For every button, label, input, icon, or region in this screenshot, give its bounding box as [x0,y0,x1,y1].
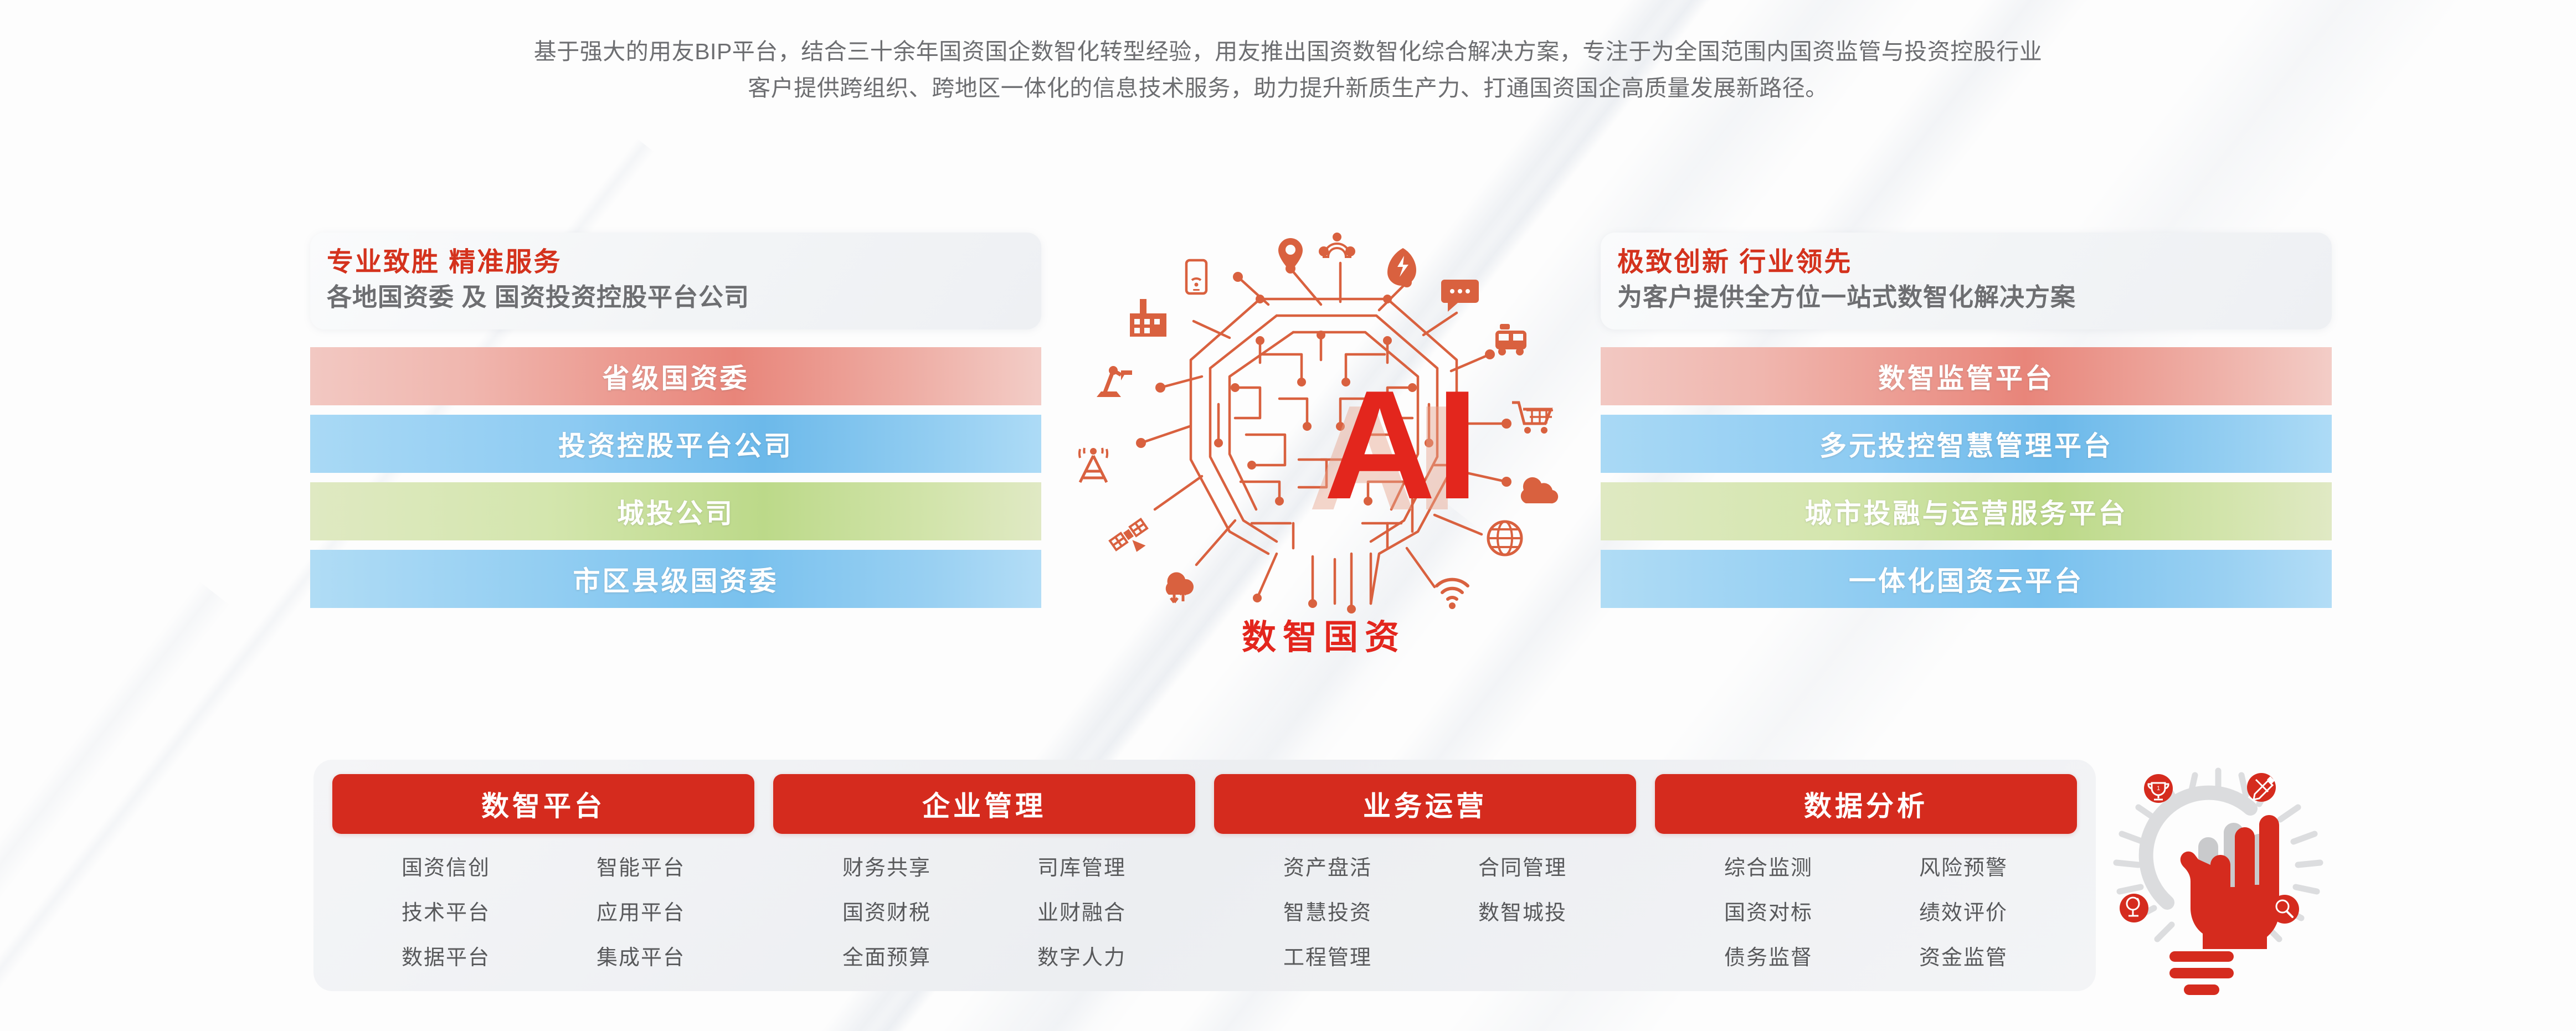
card-1[interactable]: 企业管理 财务共享 司库管理 国资财税 业财融合 全面预算 数字人力 [773,774,1195,991]
card-3-item-3[interactable]: 绩效评价 [1919,895,2008,926]
intro-line-1: 基于强大的用友BIP平台，结合三十余年国资国企数智化转型经验，用友推出国资数智化… [0,33,2576,70]
chat-bubble-icon [1441,280,1479,312]
left-column-header: 专业致胜 精准服务 各地国资委 及 国资投资控股平台公司 [310,233,1041,329]
pencil-tools-icon [2247,773,2276,802]
card-0[interactable]: 数智平台 国资信创 智能平台 技术平台 应用平台 数据平台 集成平台 [332,774,754,991]
svg-text:1: 1 [2157,785,2160,792]
card-1-items: 财务共享 司库管理 国资财税 业财融合 全面预算 数字人力 [773,850,1195,971]
magnifier-icon [2270,895,2299,924]
card-2-items: 资产盘活 合同管理 智慧投资 数智城投 工程管理 [1214,850,1636,971]
right-bar-label-0: 数智监管平台 [1878,357,2054,396]
card-2-title: 业务运营 [1214,774,1636,834]
card-1-item-2[interactable]: 国资财税 [842,895,931,926]
right-bar-3[interactable]: 一体化国资云平台 [1601,550,2332,608]
card-3-items: 综合监测 风险预警 国资对标 绩效评价 债务监督 资金监管 [1655,850,2077,971]
bottom-panel: 数智平台 国资信创 智能平台 技术平台 应用平台 数据平台 集成平台 企业管理 … [313,760,2096,991]
card-0-title: 数智平台 [332,774,754,834]
intro-paragraph: 基于强大的用友BIP平台，结合三十余年国资国企数智化转型经验，用友推出国资数智化… [0,33,2576,107]
card-2-item-3[interactable]: 数智城投 [1478,895,1567,926]
radio-tower-icon [1079,448,1107,482]
card-2-item-1[interactable]: 合同管理 [1478,850,1567,881]
centre-brand-label: 数智国资 [1069,609,1578,659]
card-0-item-1[interactable]: 智能平台 [597,850,685,881]
card-0-item-0[interactable]: 国资信创 [402,850,490,881]
shopping-cart-icon [1512,403,1553,434]
trophy-icon: 1 [2144,774,2173,803]
card-3-item-0[interactable]: 综合监测 [1724,850,1813,881]
satellite-icon [1108,518,1155,561]
card-3[interactable]: 数据分析 综合监测 风险预警 国资对标 绩效评价 债务监督 资金监管 [1655,774,2077,991]
card-0-item-2[interactable]: 技术平台 [402,895,490,926]
left-column: 专业致胜 精准服务 各地国资委 及 国资投资控股平台公司 省级国资委 投资控股平… [310,233,1041,617]
brain-circuit-svg: AI AI [1069,221,1578,631]
left-bar-label-0: 省级国资委 [602,357,749,396]
lightbulb-svg: 1 [2102,752,2335,1018]
right-bar-label-1: 多元投控智慧管理平台 [1819,424,2113,463]
left-bar-label-3: 市区县级国资委 [573,559,778,599]
right-column-subtitle: 为客户提供全方位一站式数智化解决方案 [1617,281,2315,314]
right-column-bars: 数智监管平台 多元投控智慧管理平台 城市投融与运营服务平台 一体化国资云平台 [1601,347,2332,608]
right-column-header: 极致创新 行业领先 为客户提供全方位一站式数智化解决方案 [1601,233,2332,329]
robot-arm-icon [1097,366,1132,397]
location-pin-icon [1278,238,1303,271]
card-0-item-3[interactable]: 应用平台 [597,895,685,926]
bg-streak [0,581,230,1031]
left-bar-label-2: 城投公司 [617,492,734,531]
intro-line-2: 客户提供跨组织、跨地区一体化的信息技术服务，助力提升新质生产力、打通国资国企高质… [0,70,2576,106]
cloud-transfer-icon [1166,573,1194,602]
card-2-item-4[interactable]: 工程管理 [1283,940,1372,971]
wifi-icon [1437,580,1468,609]
ai-letters: AI [1324,359,1479,532]
globe-stand-icon [2120,894,2148,922]
right-bar-1[interactable]: 多元投控智慧管理平台 [1601,415,2332,473]
right-bar-label-2: 城市投融与运营服务平台 [1804,492,2127,531]
card-2-item-2[interactable]: 智慧投资 [1283,895,1372,926]
card-0-items: 国资信创 智能平台 技术平台 应用平台 数据平台 集成平台 [332,850,754,971]
left-bar-label-1: 投资控股平台公司 [558,424,793,463]
left-column-title: 专业致胜 精准服务 [327,246,1025,279]
card-2-item-0[interactable]: 资产盘活 [1283,850,1372,881]
card-1-item-3[interactable]: 业财融合 [1037,895,1126,926]
smartphone-wifi-icon [1186,260,1206,293]
card-3-item-5[interactable]: 资金监管 [1919,940,2008,971]
card-3-item-2[interactable]: 国资对标 [1724,895,1813,926]
idea-lightbulb-graphic: 1 [2102,752,2335,1018]
card-3-title: 数据分析 [1655,774,2077,834]
card-0-item-5[interactable]: 集成平台 [597,940,685,971]
left-bar-0[interactable]: 省级国资委 [310,347,1041,405]
leaf-energy-icon [1387,248,1416,286]
card-3-item-1[interactable]: 风险预警 [1919,850,2008,881]
card-1-title: 企业管理 [773,774,1195,834]
globe-icon [1488,522,1521,555]
users-group-icon [1319,233,1355,257]
capability-cards: 数智平台 国资信创 智能平台 技术平台 应用平台 数据平台 集成平台 企业管理 … [313,760,2096,991]
card-3-item-4[interactable]: 债务监督 [1724,940,1813,971]
bus-icon [1495,324,1526,355]
left-bar-1[interactable]: 投资控股平台公司 [310,415,1041,473]
card-0-item-4[interactable]: 数据平台 [402,940,490,971]
card-1-item-4[interactable]: 全面预算 [842,940,931,971]
right-bar-2[interactable]: 城市投融与运营服务平台 [1601,482,2332,540]
card-1-item-5[interactable]: 数字人力 [1037,940,1126,971]
left-column-subtitle: 各地国资委 及 国资投资控股平台公司 [327,281,1025,314]
right-column: 极致创新 行业领先 为客户提供全方位一站式数智化解决方案 数智监管平台 多元投控… [1601,233,2332,617]
card-2[interactable]: 业务运营 资产盘活 合同管理 智慧投资 数智城投 工程管理 [1214,774,1636,991]
left-bar-2[interactable]: 城投公司 [310,482,1041,540]
card-1-item-1[interactable]: 司库管理 [1037,850,1126,881]
left-column-bars: 省级国资委 投资控股平台公司 城投公司 市区县级国资委 [310,347,1041,608]
ai-brain-graphic: AI AI [1069,221,1578,687]
left-bar-3[interactable]: 市区县级国资委 [310,550,1041,608]
right-bar-0[interactable]: 数智监管平台 [1601,347,2332,405]
card-1-item-0[interactable]: 财务共享 [842,850,931,881]
factory-icon [1130,299,1166,337]
right-bar-label-3: 一体化国资云平台 [1849,559,2084,599]
right-column-title: 极致创新 行业领先 [1617,246,2315,279]
cloud-icon [1521,477,1558,503]
